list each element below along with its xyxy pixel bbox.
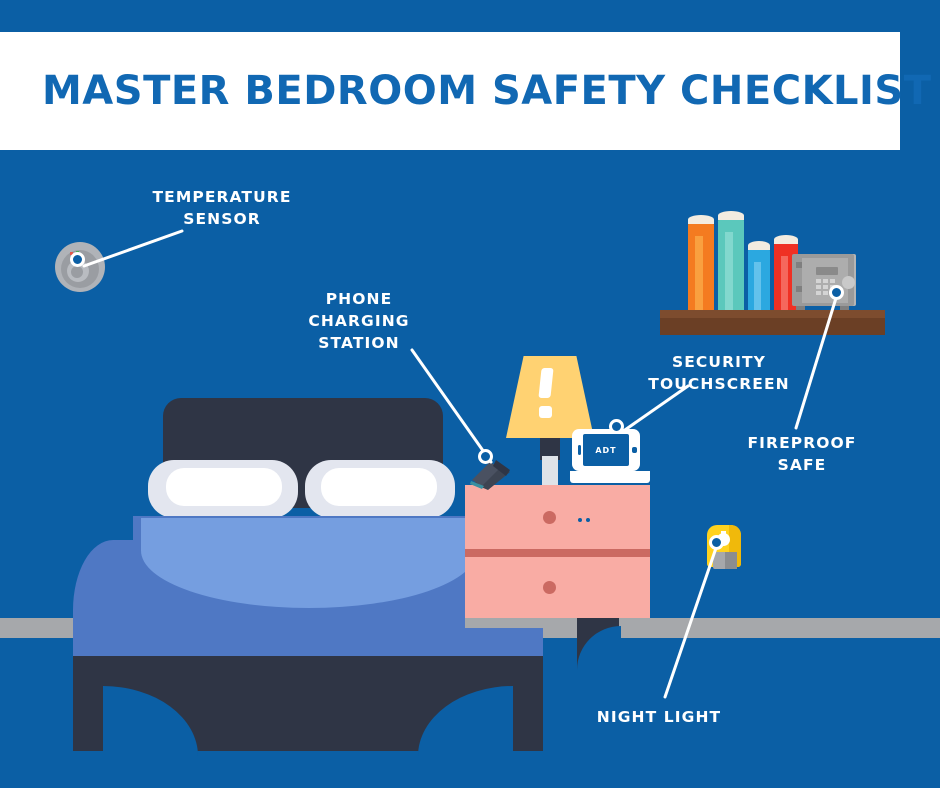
lamp-highlight-long: [538, 368, 553, 398]
security-touchscreen-icon: ADT: [570, 429, 650, 486]
callout-label-night-light: NIGHT LIGHT: [585, 706, 733, 728]
adt-home-button-icon: [632, 447, 637, 453]
book-spine-stripe: [695, 236, 703, 310]
book: [688, 222, 714, 310]
shelf-board-top-edge: [660, 310, 885, 318]
safe-foot: [840, 306, 849, 310]
book-cap: [688, 215, 714, 224]
adt-led-indicator: [578, 518, 582, 522]
title-banner: MASTER BEDROOM SAFETY CHECKLIST: [0, 32, 900, 150]
adt-screen: ADT: [583, 434, 629, 466]
callout-label-temperature-sensor: TEMPERATURE SENSOR: [138, 186, 306, 230]
book-cap: [748, 241, 770, 250]
lamp-pole: [542, 456, 558, 486]
safe-keypad-key: [823, 285, 828, 289]
safe-keypad-key: [816, 285, 821, 289]
adt-speaker-icon: [578, 445, 581, 455]
safe-foot: [796, 306, 805, 310]
book-spine-stripe: [725, 232, 733, 310]
safe-keypad-key: [816, 291, 821, 295]
lamp-shade: [506, 356, 594, 438]
safe-keypad-key: [830, 279, 835, 283]
phone-charging-station-icon: [466, 450, 520, 490]
book-spine-stripe: [781, 256, 788, 310]
callout-dot-phone-charging-station: [478, 449, 493, 464]
nightstand: [465, 485, 650, 670]
pillow-left-inner: [166, 468, 282, 506]
safe-keypad-key: [816, 279, 821, 283]
callout-dot-fireproof-safe: [829, 285, 844, 300]
safe-display-icon: [816, 267, 838, 275]
temperature-sensor-icon: [54, 241, 106, 293]
safe-keypad-key: [823, 279, 828, 283]
pillow-left: [148, 460, 298, 518]
nightstand-plinth: [465, 618, 650, 628]
nightstand-body: [465, 485, 650, 618]
night-light-icon: [707, 525, 741, 577]
adt-led-indicator: [586, 518, 590, 522]
pillow-right-inner: [321, 468, 437, 506]
callout-label-phone-charging-station: PHONE CHARGING STATION: [283, 288, 435, 354]
callout-dot-night-light: [709, 535, 724, 550]
callout-label-security-touchscreen: SECURITY TOUCHSCREEN: [635, 351, 803, 395]
book-cap: [718, 211, 744, 220]
callout-label-fireproof-safe: FIREPROOF SAFE: [723, 432, 881, 476]
safe-body: [792, 254, 854, 306]
pillow-right: [305, 460, 455, 518]
nightstand-knob-top: [543, 511, 556, 524]
callout-dot-temperature-sensor: [70, 252, 85, 267]
book-spine-stripe: [754, 262, 761, 310]
adt-stand-base: [570, 471, 650, 483]
infographic-canvas: MASTER BEDROOM SAFETY CHECKLIST: [0, 0, 940, 788]
book: [718, 218, 744, 310]
page-title: MASTER BEDROOM SAFETY CHECKLIST: [42, 68, 932, 114]
callout-dot-security-touchscreen: [609, 419, 624, 434]
nightstand-drawer-divider: [465, 549, 650, 557]
night-light-plug-shade: [725, 552, 737, 569]
book: [748, 248, 770, 310]
safe-keypad-key: [823, 291, 828, 295]
adt-brand-label: ADT: [583, 434, 629, 466]
book-cap: [774, 235, 798, 244]
lamp-highlight-short: [539, 406, 552, 418]
adt-tablet-body: ADT: [572, 429, 640, 471]
fireproof-safe-icon: [788, 254, 860, 310]
nightstand-knob-bottom: [543, 581, 556, 594]
safe-dial-icon: [842, 276, 855, 289]
